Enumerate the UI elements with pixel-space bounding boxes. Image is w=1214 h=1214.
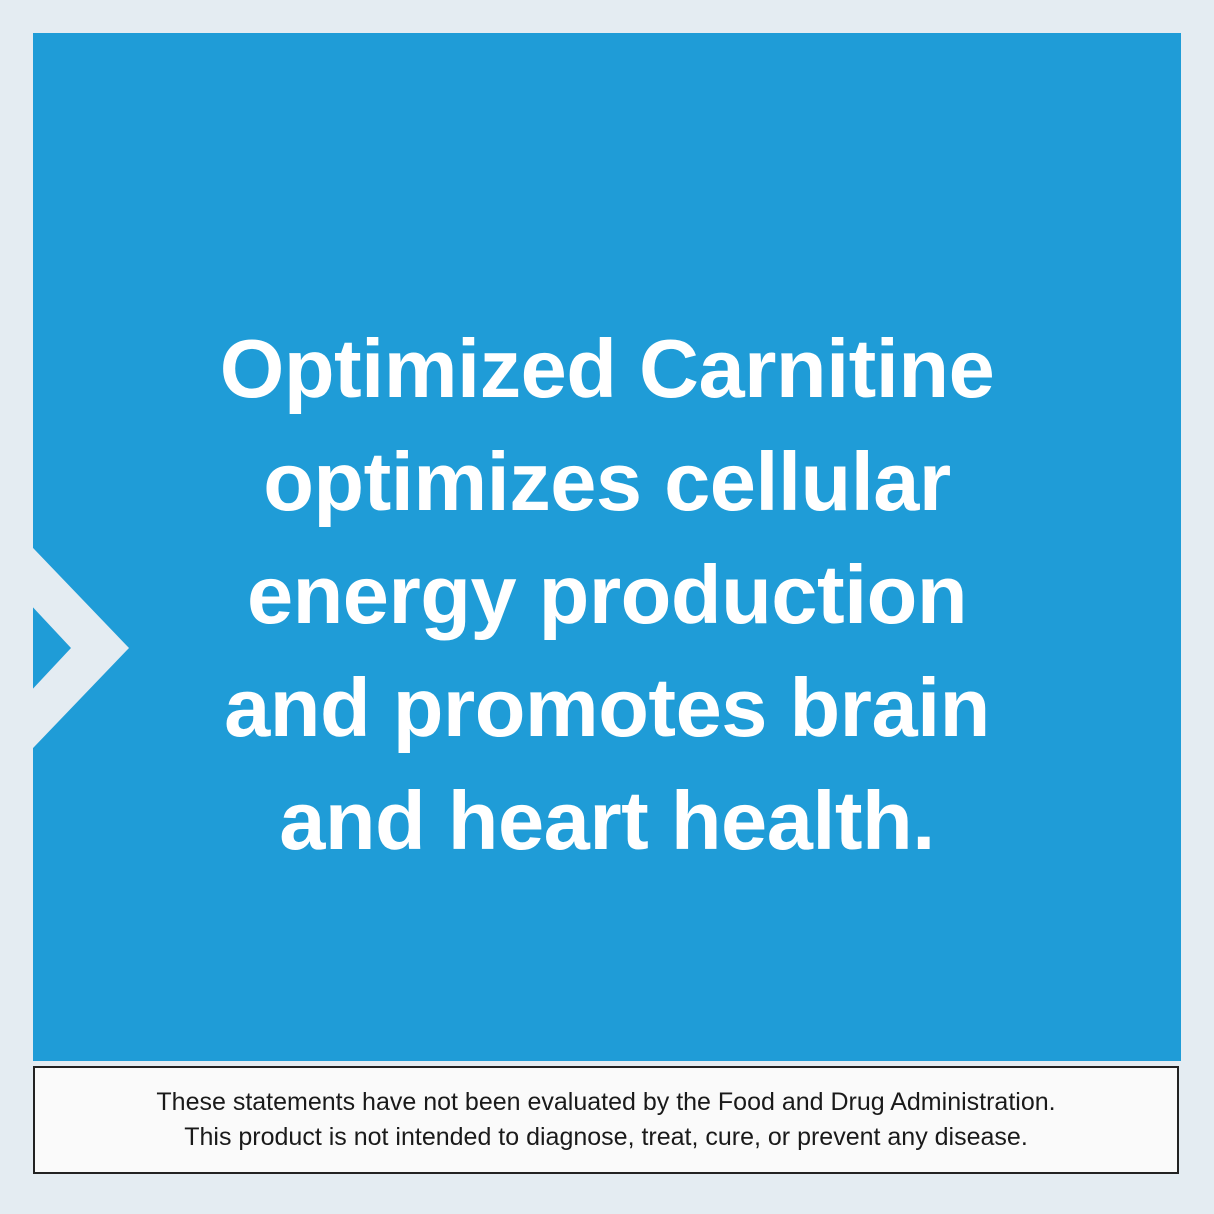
headline-line-2: optimizes cellular bbox=[123, 426, 1091, 539]
blue-panel: Optimized Carnitine optimizes cellular e… bbox=[33, 33, 1181, 1061]
fda-disclaimer-box: These statements have not been evaluated… bbox=[33, 1066, 1179, 1174]
disclaimer-line-1: These statements have not been evaluated… bbox=[156, 1085, 1055, 1121]
product-claim-card: Optimized Carnitine optimizes cellular e… bbox=[0, 0, 1214, 1214]
headline-line-5: and heart health. bbox=[123, 765, 1091, 878]
headline: Optimized Carnitine optimizes cellular e… bbox=[123, 313, 1091, 877]
headline-line-4: and promotes brain bbox=[123, 652, 1091, 765]
headline-line-3: energy production bbox=[123, 539, 1091, 652]
disclaimer-line-2: This product is not intended to diagnose… bbox=[184, 1120, 1028, 1156]
headline-line-1: Optimized Carnitine bbox=[123, 313, 1091, 426]
